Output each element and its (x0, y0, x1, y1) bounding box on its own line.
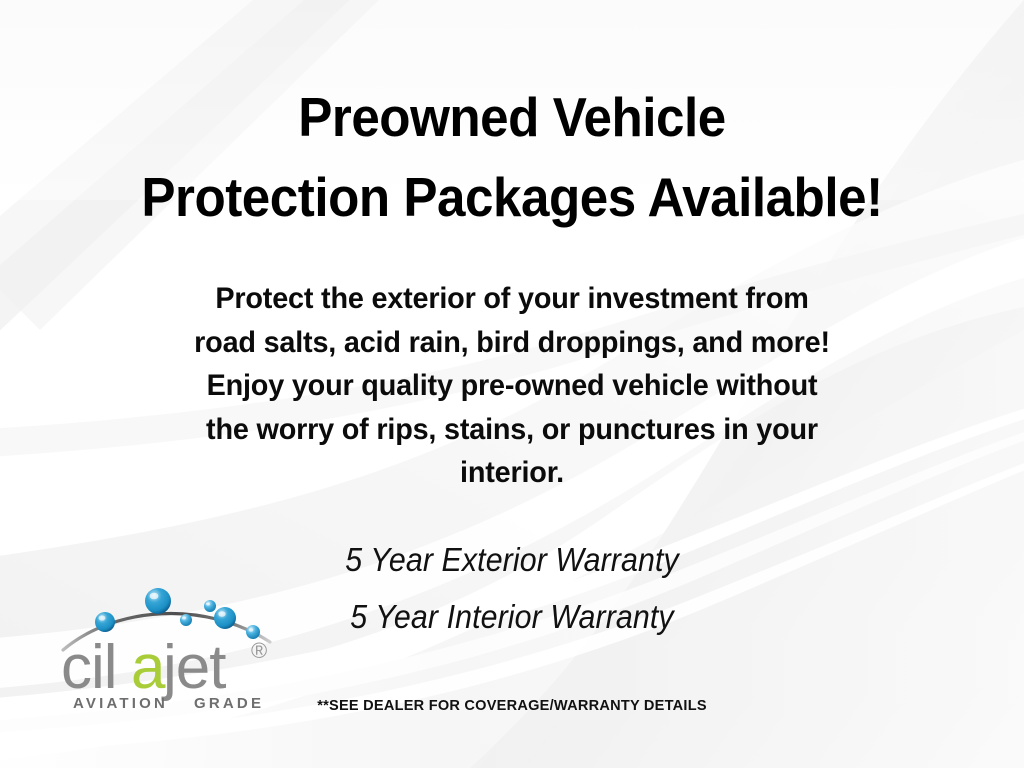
logo-wordmark-cil: cil (61, 633, 117, 702)
logo-tagline-aviation: AVIATION (73, 695, 168, 712)
logo-bubble-icon (246, 625, 260, 639)
logo-bubble-icon (95, 612, 115, 632)
body-copy-line-2: road salts, acid rain, bird droppings, a… (20, 321, 1003, 365)
body-copy: Protect the exterior of your investment … (20, 277, 1003, 495)
cilajet-logo-graphic: cil a jet ® AVIATION GRADE (55, 580, 295, 715)
slide-canvas: Preowned Vehicle Protection Packages Ava… (0, 0, 1024, 768)
cilajet-logo: cil a jet ® AVIATION GRADE (55, 580, 295, 715)
logo-registered-icon: ® (251, 638, 267, 663)
body-copy-line-4: the worry of rips, stains, or punctures … (20, 408, 1003, 452)
body-copy-line-5: interior. (20, 451, 1003, 495)
body-copy-line-3: Enjoy your quality pre-owned vehicle wit… (20, 364, 1003, 408)
logo-tagline-grade: GRADE (194, 695, 264, 712)
slide-content: Preowned Vehicle Protection Packages Ava… (0, 0, 1024, 768)
logo-wordmark-jet: jet (161, 633, 226, 702)
page-title: Preowned Vehicle Protection Packages Ava… (36, 78, 988, 238)
logo-bubble-icon (180, 614, 192, 626)
logo-bubble-icon (214, 607, 236, 629)
logo-wordmark-a-accent: a (131, 633, 166, 702)
headline-line-1: Preowned Vehicle (36, 78, 988, 158)
headline-line-2: Protection Packages Available! (36, 158, 988, 238)
body-copy-line-1: Protect the exterior of your investment … (20, 277, 1003, 321)
logo-bubble-icon (204, 600, 216, 612)
logo-bubble-icon (145, 588, 171, 614)
